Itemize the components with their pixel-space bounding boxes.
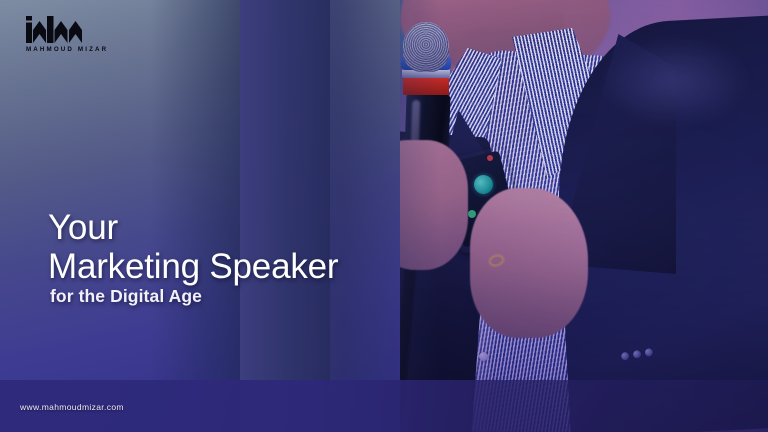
mm-monogram-icon xyxy=(26,16,89,43)
headline-line-1: Your xyxy=(48,208,118,247)
brand-logo[interactable]: MAHMOUD MIZAR xyxy=(26,16,126,53)
page-subtitle: for the Digital Age xyxy=(50,286,202,307)
page-title: Your Marketing Speaker xyxy=(48,208,338,286)
headline-line-2: Marketing Speaker xyxy=(48,247,338,286)
website-url[interactable]: www.mahmoudmizar.com xyxy=(20,402,124,412)
brand-wordmark: MAHMOUD MIZAR xyxy=(26,46,126,53)
banner-slide: MAHMOUD MIZAR Your Marketing Speaker for… xyxy=(0,0,768,432)
